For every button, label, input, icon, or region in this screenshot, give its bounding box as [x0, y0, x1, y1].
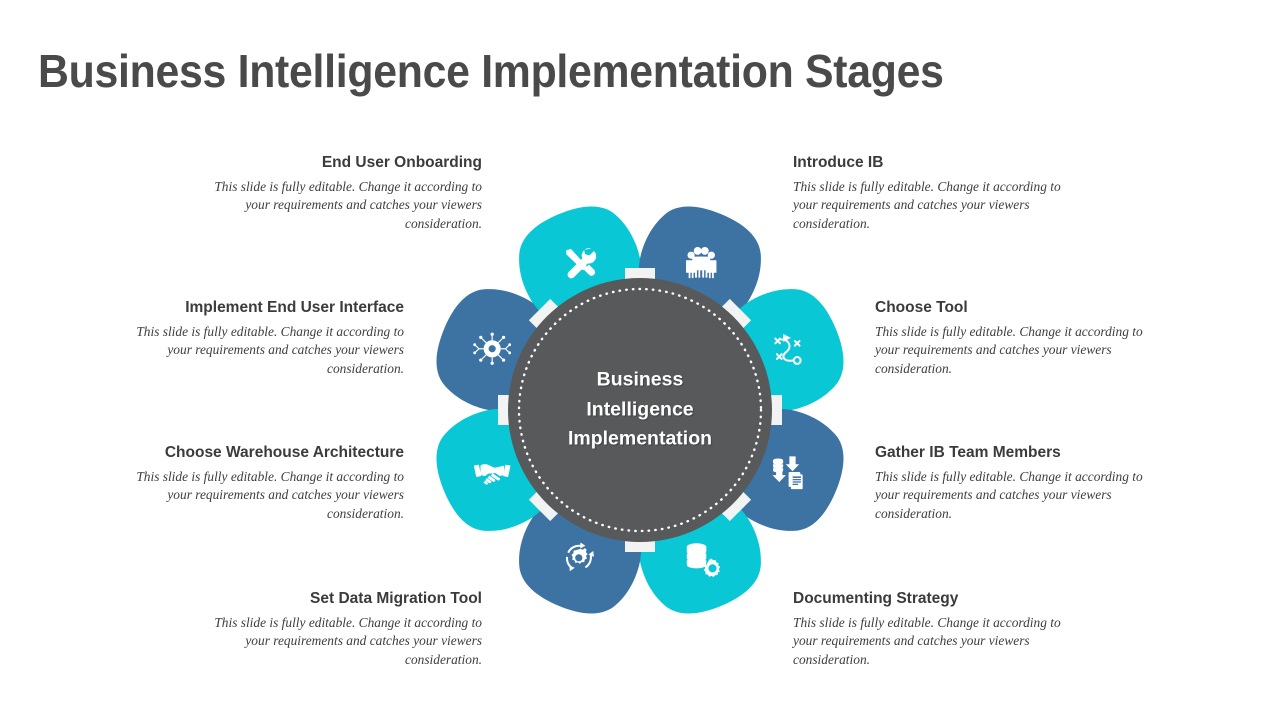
segment-heading: Choose Warehouse Architecture — [112, 444, 404, 462]
segment-body: This slide is fully editable. Change it … — [875, 468, 1167, 524]
bi-implementation-wheel: Business Intelligence Implementation — [415, 185, 865, 635]
segment-heading: Choose Tool — [875, 299, 1167, 317]
segment-body: This slide is fully editable. Change it … — [112, 468, 404, 524]
segment-text-implement-end-user-interface: Implement End User Interface This slide … — [112, 299, 404, 378]
segment-text-choose-tool: Choose Tool This slide is fully editable… — [875, 299, 1167, 378]
segment-text-gather-ib-team-members: Gather IB Team Members This slide is ful… — [875, 444, 1167, 523]
segment-heading: Gather IB Team Members — [875, 444, 1167, 462]
segment-heading: End User Onboarding — [190, 154, 482, 172]
segment-body: This slide is fully editable. Change it … — [875, 323, 1167, 379]
center-hub — [508, 278, 772, 542]
segment-text-choose-warehouse-architecture: Choose Warehouse Architecture This slide… — [112, 444, 404, 523]
page-title: Business Intelligence Implementation Sta… — [38, 44, 944, 98]
segment-body: This slide is fully editable. Change it … — [112, 323, 404, 379]
segment-heading: Introduce IB — [793, 154, 1085, 172]
segment-heading: Implement End User Interface — [112, 299, 404, 317]
